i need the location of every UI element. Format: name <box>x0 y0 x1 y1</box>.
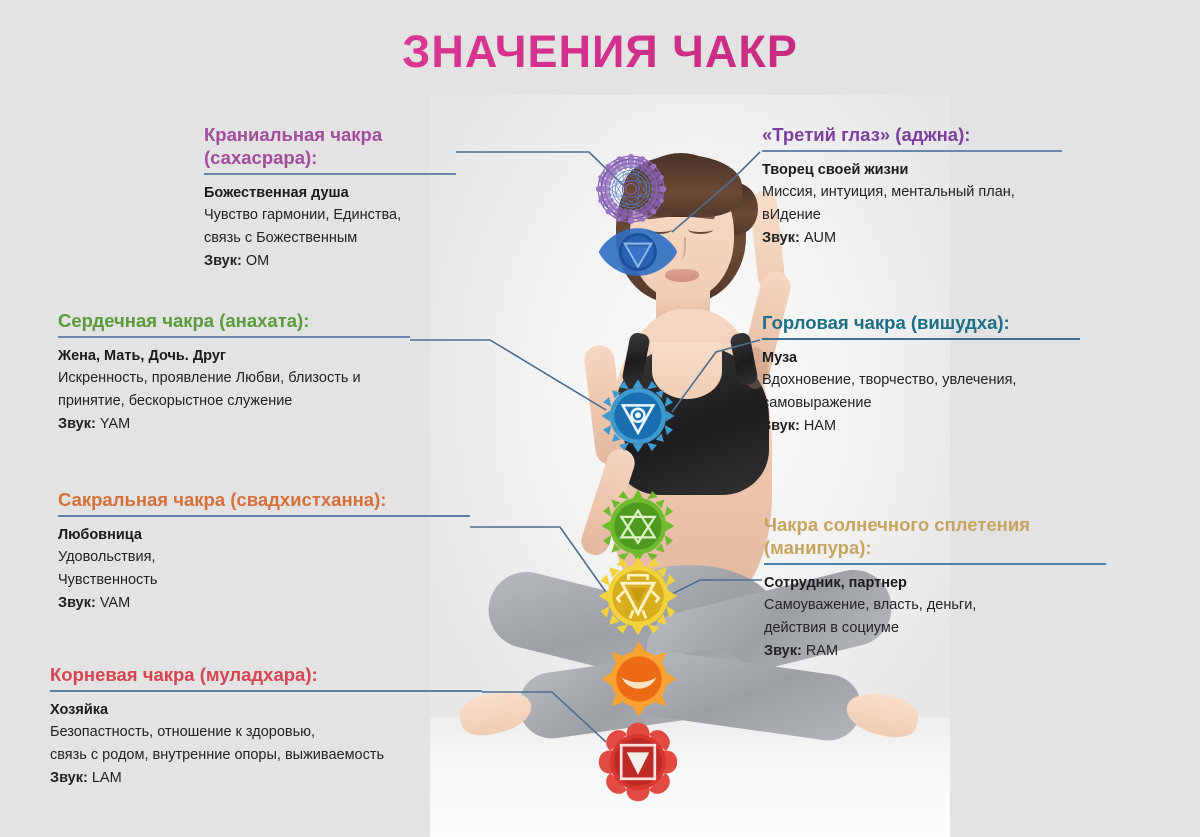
heart-heading: Сердечная чакра (анахата): <box>58 310 410 333</box>
heart-sound-label: Звук: <box>58 416 96 432</box>
heart-rule <box>58 336 410 338</box>
root-role: Хозяйка <box>50 699 482 721</box>
third-eye-heading: «Третий глаз» (аджна): <box>762 124 1062 147</box>
crown-rule <box>204 173 456 175</box>
solar-plexus-heading: Чакра солнечного сплетения (манипура): <box>764 514 1106 560</box>
third-eye-role: Творец своей жизни <box>762 159 1062 181</box>
sacral-role: Любовница <box>58 524 470 546</box>
throat-heading: Горловая чакра (вишудха): <box>762 312 1080 335</box>
crown-sound-value: OM <box>246 253 269 269</box>
third-eye-chakra-symbol <box>596 218 680 286</box>
root-sound: Звук: LAM <box>50 767 482 789</box>
solar-plexus-sound: Звук: RAM <box>764 640 1106 662</box>
throat-sound-value: HAM <box>804 418 836 434</box>
heart-description: Искренность, проявление Любви, близость … <box>58 367 410 412</box>
crown-description: Чувство гармонии, Единства, связь с Боже… <box>204 204 456 249</box>
sacral-description: Удовольствия, Чувственность <box>58 546 470 591</box>
root-sound-label: Звук: <box>50 770 88 786</box>
chakra-block-sacral: Сакральная чакра (свадхистханна): Любовн… <box>58 489 470 615</box>
third-eye-sound-value: AUM <box>804 230 836 246</box>
sacral-rule <box>58 515 470 517</box>
crown-role: Божественная душа <box>204 182 456 204</box>
root-description: Безопастность, отношение к здоровью, свя… <box>50 721 482 766</box>
crown-heading: Краниальная чакра (сахасрара): <box>204 124 456 170</box>
sacral-sound: Звук: VAM <box>58 592 470 614</box>
third-eye-description: Миссия, интуиция, ментальный план, вИден… <box>762 181 1062 226</box>
heart-role: Жена, Мать, Дочь. Друг <box>58 345 410 367</box>
chakra-block-crown: Краниальная чакра (сахасрара): Божествен… <box>204 124 456 273</box>
sacral-heading: Сакральная чакра (свадхистханна): <box>58 489 470 512</box>
third-eye-sound-label: Звук: <box>762 230 800 246</box>
chakra-block-heart: Сердечная чакра (анахата): Жена, Мать, Д… <box>58 310 410 436</box>
solar-plexus-description: Самоуважение, власть, деньги, действия в… <box>764 594 1106 639</box>
chakra-block-third-eye: «Третий глаз» (аджна): Творец своей жизн… <box>762 124 1062 250</box>
throat-sound: Звук: HAM <box>762 415 1080 437</box>
chakra-block-root: Корневая чакра (муладхара): Хозяйка Безо… <box>50 664 482 790</box>
throat-role: Муза <box>762 347 1080 369</box>
heart-chakra-symbol <box>600 488 676 564</box>
solar-plexus-role: Сотрудник, партнер <box>764 572 1106 594</box>
root-chakra-symbol <box>598 722 678 802</box>
throat-sound-label: Звук: <box>762 418 800 434</box>
heart-sound-value: YAM <box>100 416 130 432</box>
chakra-block-throat: Горловая чакра (вишудха): Муза Вдохновен… <box>762 312 1080 438</box>
root-sound-value: LAM <box>92 770 122 786</box>
page-title: ЗНАЧЕНИЯ ЧАКР <box>0 26 1200 78</box>
sacral-sound-value: VAM <box>100 595 130 611</box>
third-eye-rule <box>762 150 1062 152</box>
chakra-block-solar-plexus: Чакра солнечного сплетения (манипура): С… <box>764 514 1106 663</box>
throat-chakra-symbol <box>600 378 676 454</box>
sacral-sound-label: Звук: <box>58 595 96 611</box>
solar-plexus-sound-value: RAM <box>806 643 838 659</box>
throat-rule <box>762 338 1080 340</box>
root-rule <box>50 690 482 692</box>
sacral-chakra-symbol <box>600 640 678 718</box>
eye-closed-right <box>688 225 713 234</box>
root-heading: Корневая чакра (муладхара): <box>50 664 482 687</box>
throat-description: Вдохновение, творчество, увлечения, само… <box>762 369 1080 414</box>
solar-plexus-rule <box>764 563 1106 565</box>
crown-sound-label: Звук: <box>204 253 242 269</box>
crown-chakra-symbol <box>592 150 670 228</box>
heart-sound: Звук: YAM <box>58 413 410 435</box>
infographic-canvas: ЗНАЧЕНИЯ ЧАКР Краниальная чакра (сахасра… <box>0 0 1200 837</box>
foot-right <box>843 688 922 742</box>
third-eye-sound: Звук: AUM <box>762 227 1062 249</box>
crown-sound: Звук: OM <box>204 250 456 272</box>
solar-plexus-chakra-symbol <box>598 556 678 636</box>
solar-plexus-sound-label: Звук: <box>764 643 802 659</box>
